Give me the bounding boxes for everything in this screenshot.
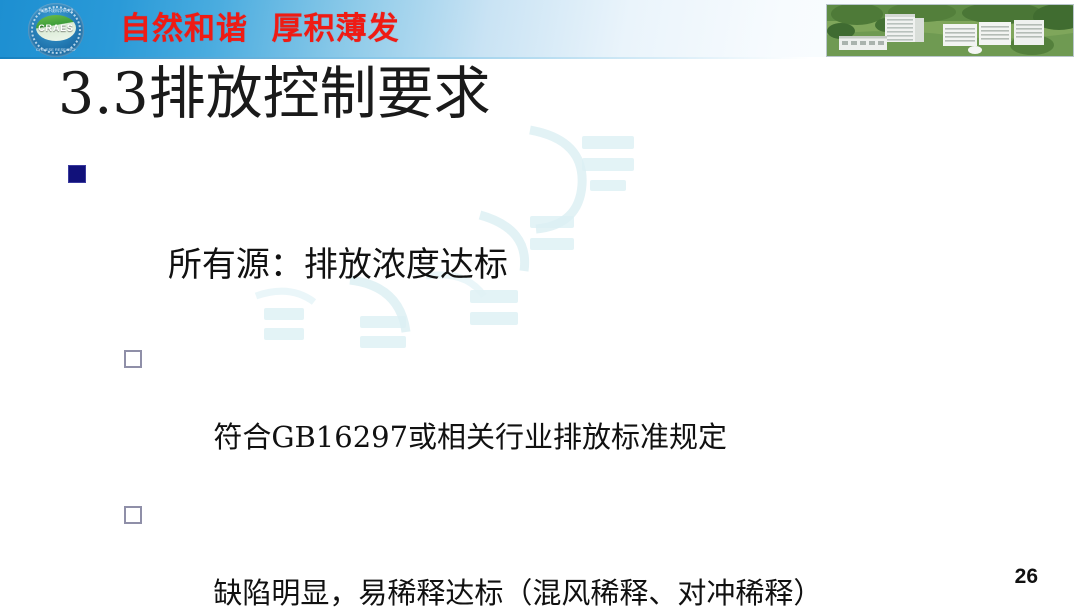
sub-item-1-1: 符合GB16297或相关行业排放标准规定 bbox=[0, 340, 1080, 496]
craes-logo: 中国环境科学研究院 CRAES CHINESE RESEARCH ACADEMY bbox=[28, 3, 84, 57]
logo-arc-bottom-text: CHINESE RESEARCH ACADEMY bbox=[36, 47, 76, 54]
bullet-square-icon bbox=[68, 165, 86, 183]
section-heading-1: 所有源：排放浓度达标 bbox=[0, 150, 1080, 334]
header-campus-photo bbox=[826, 4, 1074, 57]
page-title: 3.3排放控制要求 bbox=[58, 58, 491, 130]
section-heading-1-label: 所有源：排放浓度达标 bbox=[168, 245, 508, 285]
header-slogan: 自然和谐 厚积薄发 bbox=[120, 9, 400, 49]
sub-item-1-2-label: 缺陷明显，易稀释达标（混风稀释、对冲稀释） bbox=[213, 576, 822, 607]
page-number: 26 bbox=[1015, 565, 1038, 589]
sub-item-1-2: 缺陷明显，易稀释达标（混风稀释、对冲稀释） bbox=[0, 496, 1080, 607]
logo-wordmark: CRAES bbox=[37, 23, 75, 33]
presentation-slide: 中国环境科学研究院 CRAES CHINESE RESEARCH ACADEMY… bbox=[0, 0, 1080, 607]
hollow-square-icon bbox=[124, 506, 142, 524]
sub-item-1-1-label: 符合GB16297或相关行业排放标准规定 bbox=[213, 420, 727, 454]
hollow-square-icon bbox=[124, 350, 142, 368]
logo-arc-top-text: 中国环境科学研究院 bbox=[39, 8, 73, 15]
slide-body: 所有源：排放浓度达标 符合GB16297或相关行业排放标准规定 缺陷明显，易稀释… bbox=[0, 150, 1080, 607]
campus-photo-graphic bbox=[827, 5, 1073, 56]
